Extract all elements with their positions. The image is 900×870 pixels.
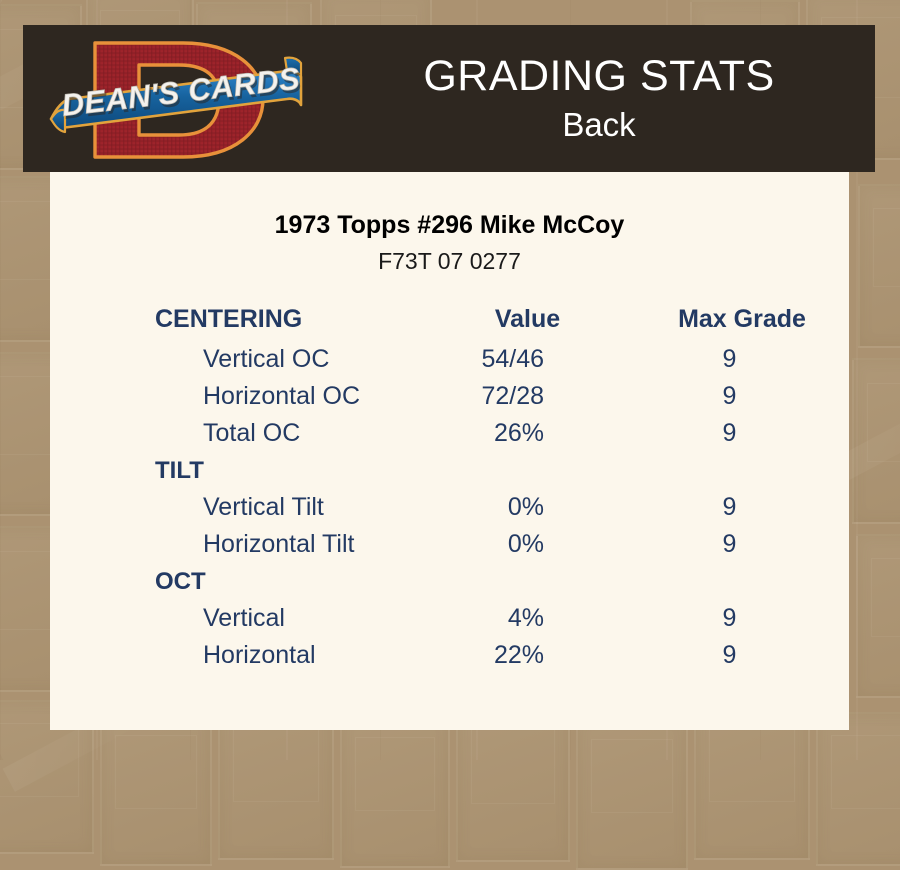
stat-label: Horizontal Tilt: [50, 526, 420, 563]
stat-label: Horizontal OC: [50, 378, 420, 415]
section-spacer: [420, 452, 635, 489]
table-header: CENTERING Value Max Grade: [50, 305, 849, 341]
header-bar: DEAN'S CARDS DEAN'S CARDS GRADING STATS …: [23, 25, 875, 172]
background-card-ghost: [816, 712, 900, 866]
table-row: Total OC26%9: [50, 415, 849, 452]
stat-max-grade: 9: [635, 378, 849, 415]
column-header-value: Value: [420, 305, 635, 341]
table-row: Horizontal Tilt0%9: [50, 526, 849, 563]
table-row: Vertical OC54/469: [50, 341, 849, 378]
background-card-ghost: [856, 534, 900, 698]
stat-value: 4%: [420, 600, 635, 637]
background-card-ghost: [340, 714, 450, 868]
table-row: Vertical Tilt0%9: [50, 489, 849, 526]
stat-value: 0%: [420, 489, 635, 526]
stat-value: 72/28: [420, 378, 635, 415]
stat-value: 0%: [420, 526, 635, 563]
stat-max-grade: 9: [635, 637, 849, 674]
card-title: 1973 Topps #296 Mike McCoy: [50, 210, 849, 240]
header-title-block: GRADING STATS Back: [323, 25, 875, 172]
content-panel: 1973 Topps #296 Mike McCoy F73T 07 0277 …: [50, 172, 849, 730]
background-card-ghost: [858, 184, 900, 348]
stat-max-grade: 9: [635, 600, 849, 637]
section-header-row: TILT: [50, 452, 849, 489]
logo-ribbon: DEAN'S CARDS DEAN'S CARDS: [51, 58, 304, 132]
grading-stats-table: CENTERING Value Max Grade Vertical OC54/…: [50, 305, 849, 674]
section-title: OCT: [50, 563, 420, 600]
section-spacer: [635, 563, 849, 600]
stat-label: Vertical: [50, 600, 420, 637]
table-row: Horizontal OC72/289: [50, 378, 849, 415]
section-spacer: [420, 563, 635, 600]
stat-max-grade: 9: [635, 415, 849, 452]
stat-value: 26%: [420, 415, 635, 452]
section-header-row: OCT: [50, 563, 849, 600]
column-header-section: CENTERING: [50, 305, 420, 341]
stat-value: 54/46: [420, 341, 635, 378]
stat-max-grade: 9: [635, 341, 849, 378]
column-header-max-grade: Max Grade: [635, 305, 849, 341]
stat-max-grade: 9: [635, 489, 849, 526]
table-row: Vertical4%9: [50, 600, 849, 637]
page-subtitle: Back: [562, 105, 635, 145]
section-title: TILT: [50, 452, 420, 489]
stat-label: Horizontal: [50, 637, 420, 674]
background-card-ghost: [576, 716, 688, 870]
table-row: Horizontal22%9: [50, 637, 849, 674]
stat-label: Total OC: [50, 415, 420, 452]
stat-value: 22%: [420, 637, 635, 674]
stat-max-grade: 9: [635, 526, 849, 563]
stat-label: Vertical OC: [50, 341, 420, 378]
deans-cards-logo[interactable]: DEAN'S CARDS DEAN'S CARDS: [43, 27, 308, 172]
section-spacer: [635, 452, 849, 489]
page-title: GRADING STATS: [423, 52, 774, 101]
table-header-row: CENTERING Value Max Grade: [50, 305, 849, 341]
card-serial-number: F73T 07 0277: [50, 247, 849, 275]
stat-label: Vertical Tilt: [50, 489, 420, 526]
table-body: Vertical OC54/469Horizontal OC72/289Tota…: [50, 341, 849, 674]
